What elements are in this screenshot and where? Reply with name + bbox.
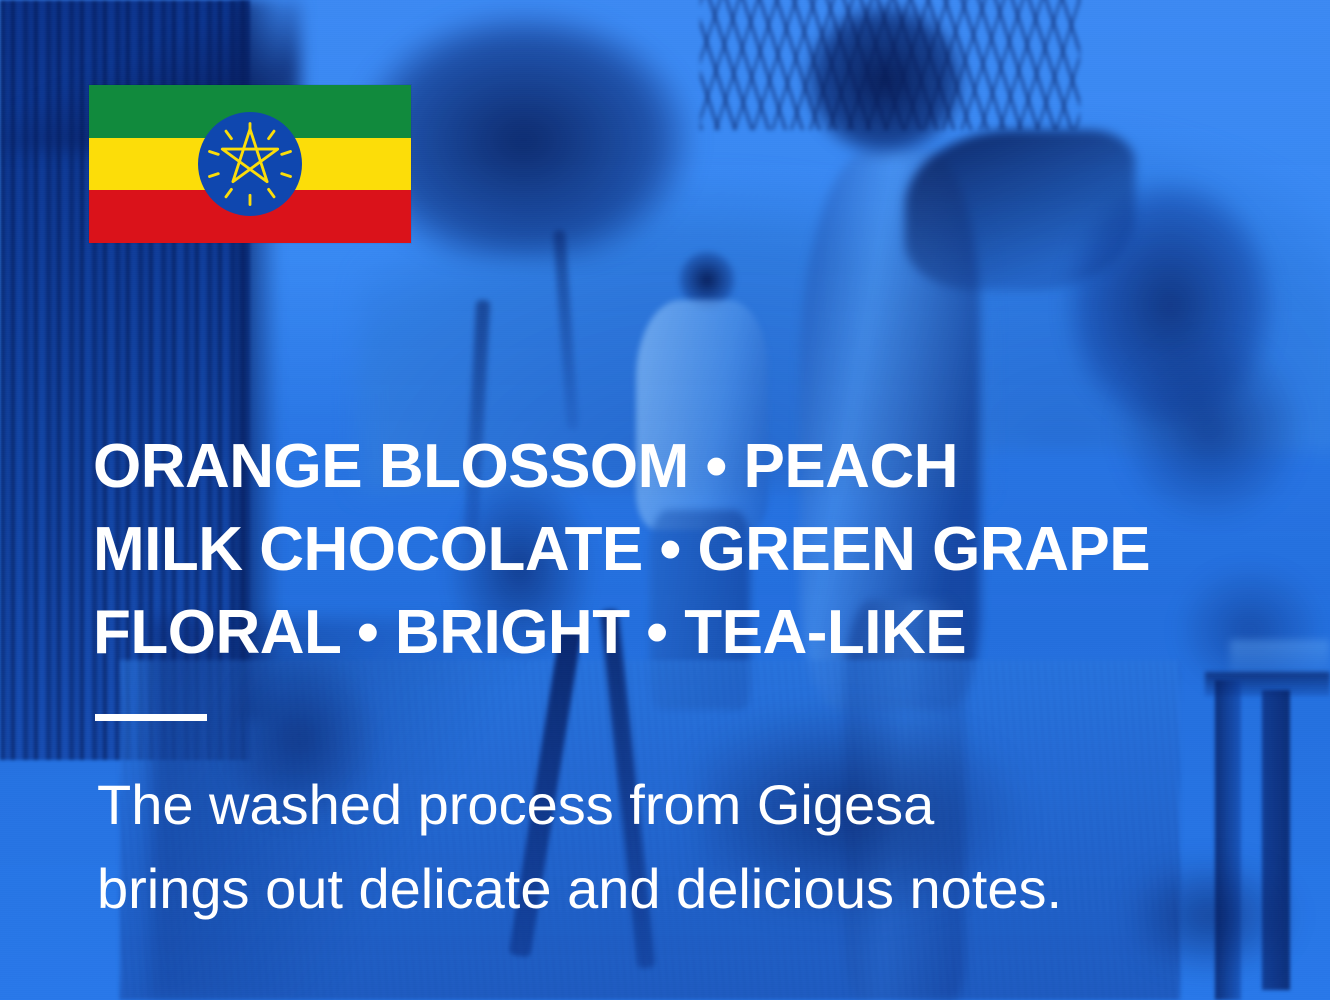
tasting-notes-line-1: ORANGE BLOSSOM • PEACH (93, 425, 1273, 508)
description-text: The washed process from Gigesa brings ou… (97, 763, 1297, 931)
card-content: ORANGE BLOSSOM • PEACH MILK CHOCOLATE • … (0, 0, 1330, 1000)
description-line-1: The washed process from Gigesa (97, 763, 1297, 847)
tasting-notes-line-3: FLORAL • BRIGHT • TEA-LIKE (93, 591, 1273, 674)
divider-rule (95, 714, 207, 721)
description-line-2: brings out delicate and delicious notes. (97, 847, 1297, 931)
tasting-notes-headline: ORANGE BLOSSOM • PEACH MILK CHOCOLATE • … (93, 425, 1273, 674)
tasting-notes-line-2: MILK CHOCOLATE • GREEN GRAPE (93, 508, 1273, 591)
coffee-origin-card: ORANGE BLOSSOM • PEACH MILK CHOCOLATE • … (0, 0, 1330, 1000)
